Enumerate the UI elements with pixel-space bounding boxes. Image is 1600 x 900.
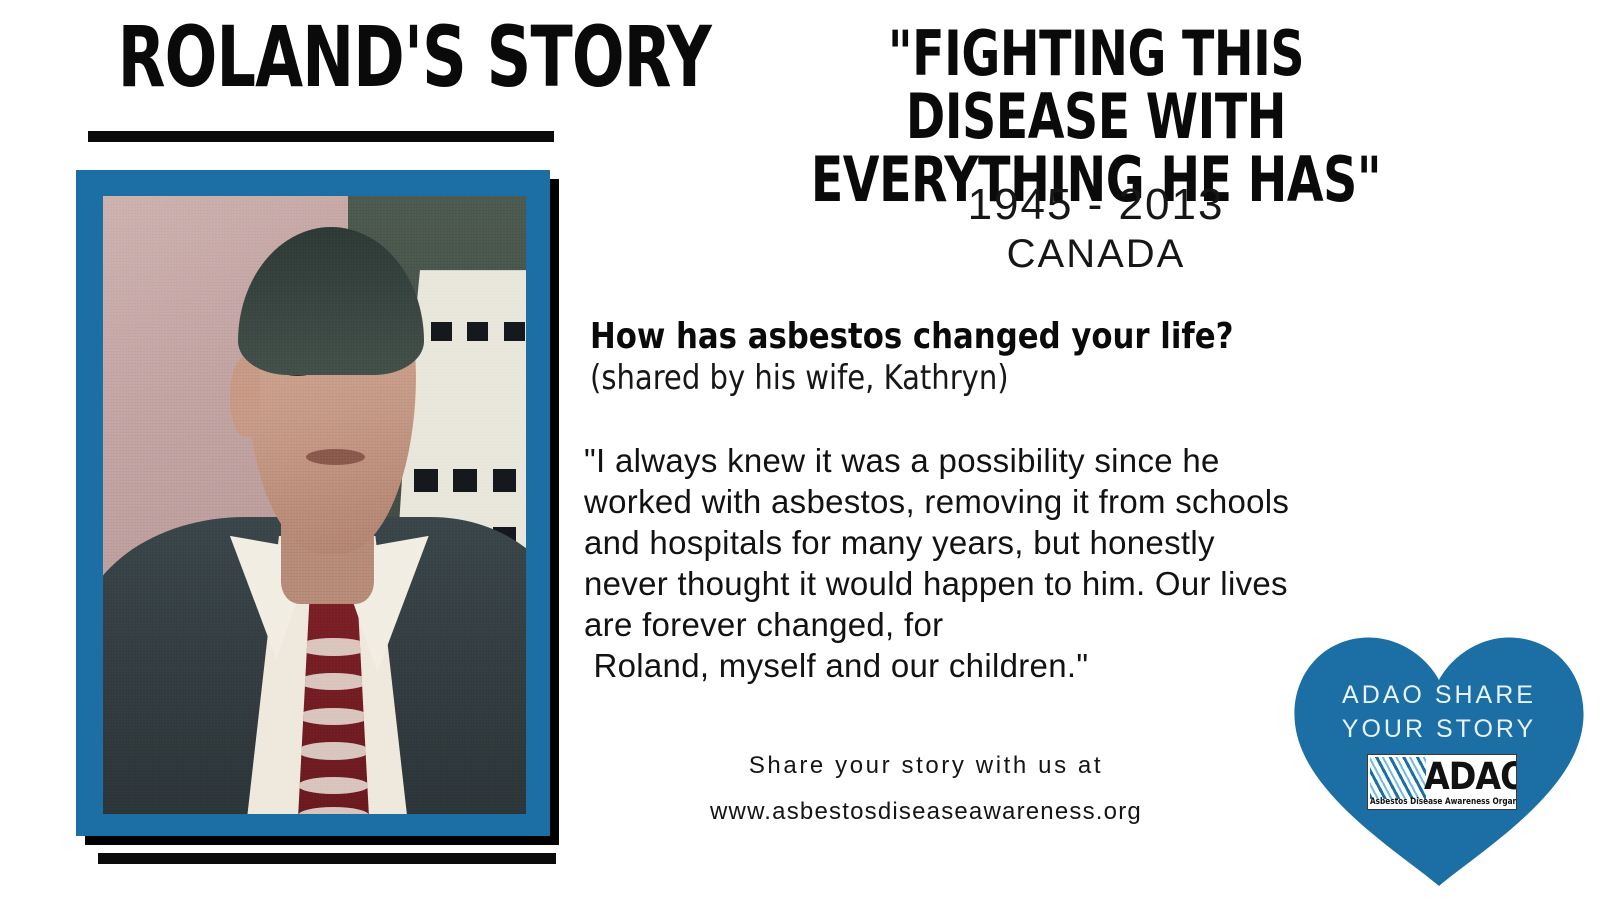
adao-swoosh-icon	[1370, 757, 1426, 799]
adao-heart-logo: ADAO SHARE YOUR STORY ADAO Asbestos Dise…	[1286, 622, 1592, 892]
shared-by-attribution: (shared by his wife, Kathryn)	[590, 358, 1009, 398]
photo-blue-frame	[76, 170, 550, 836]
country-label: CANADA	[736, 232, 1456, 277]
website-url[interactable]: www.asbestosdiseaseawareness.org	[606, 798, 1246, 826]
bottom-divider-rule	[98, 853, 556, 864]
quote-line: worked with asbestos, removing it from s…	[584, 481, 1584, 522]
title-divider-rule	[88, 131, 554, 142]
headline-line-1: "FIGHTING THIS DISEASE WITH	[773, 22, 1419, 148]
adao-acronym: ADAO	[1424, 755, 1517, 799]
page-title: ROLAND'S STORY	[118, 18, 553, 98]
share-cta-text: Share your story with us at	[606, 752, 1246, 780]
portrait-photo-block	[76, 170, 550, 836]
life-years: 1945 - 2013	[736, 180, 1456, 230]
photo-film-grain	[103, 196, 526, 814]
question-heading: How has asbestos changed your life?	[590, 316, 1233, 357]
adao-tagline: Asbestos Disease Awareness Organization	[1370, 797, 1510, 808]
quote-line: and hospitals for many years, but honest…	[584, 522, 1584, 563]
quote-line: never thought it would happen to him. Ou…	[584, 563, 1584, 604]
portrait-photo	[103, 196, 526, 814]
left-column: ROLAND'S STORY	[0, 0, 600, 900]
adao-badge: ADAO Asbestos Disease Awareness Organiza…	[1367, 754, 1517, 810]
quote-line: "I always knew it was a possibility sinc…	[584, 440, 1584, 481]
